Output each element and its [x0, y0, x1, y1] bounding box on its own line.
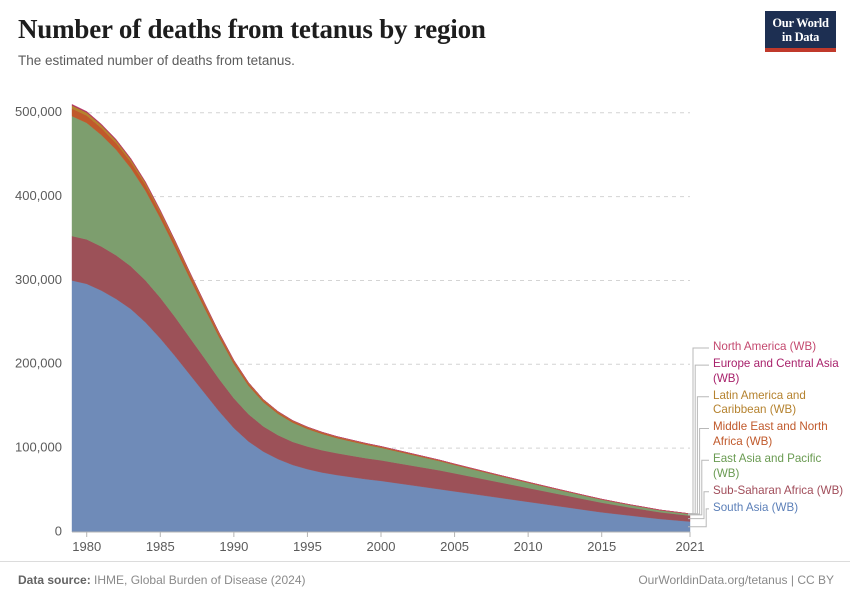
- legend-item[interactable]: Sub-Saharan Africa (WB): [713, 484, 845, 499]
- legend-item-label: South Asia (WB): [713, 501, 798, 514]
- owid-logo[interactable]: Our World in Data: [765, 11, 836, 52]
- owid-logo-line1: Our World: [771, 16, 830, 30]
- legend-connector: [688, 397, 709, 514]
- x-tick-label: 2015: [587, 539, 616, 554]
- area-band: [72, 105, 690, 514]
- x-tick-label: 2021: [676, 539, 705, 554]
- area-band: [72, 236, 690, 522]
- area-band: [72, 280, 690, 532]
- x-tick-label: 1990: [219, 539, 248, 554]
- x-tick-label: 1995: [293, 539, 322, 554]
- x-tick-label: 1980: [72, 539, 101, 554]
- legend-connectors: [688, 348, 709, 527]
- legend-item[interactable]: Europe and Central Asia (WB): [713, 357, 845, 386]
- legend-item-label: Europe and Central Asia (WB): [713, 357, 839, 385]
- legend-item[interactable]: South Asia (WB): [713, 501, 845, 516]
- attribution-link[interactable]: OurWorldinData.org/tetanus | CC BY: [638, 573, 834, 587]
- y-tick-label: 400,000: [15, 188, 62, 203]
- legend-connector: [688, 348, 709, 514]
- x-axis-labels: 198019851990199520002005201020152021: [72, 539, 704, 554]
- data-source: Data source: IHME, Global Burden of Dise…: [18, 573, 305, 587]
- page-title: Number of deaths from tetanus by region: [18, 14, 718, 45]
- area-band: [72, 105, 690, 514]
- owid-chart: Number of deaths from tetanus by region …: [0, 0, 850, 600]
- chart-footer: Data source: IHME, Global Burden of Dise…: [0, 561, 850, 600]
- data-source-value: IHME, Global Burden of Disease (2024): [94, 573, 305, 587]
- area-band: [72, 116, 690, 516]
- owid-logo-line2: in Data: [771, 30, 830, 44]
- legend-item-label: Middle East and North Africa (WB): [713, 420, 828, 448]
- legend-item[interactable]: Latin America and Caribbean (WB): [713, 389, 845, 418]
- x-tick-label: 2000: [367, 539, 396, 554]
- area-series-group: [72, 104, 690, 532]
- legend-item[interactable]: North America (WB): [713, 340, 845, 355]
- y-tick-label: 0: [55, 523, 62, 538]
- x-tick-label: 2005: [440, 539, 469, 554]
- x-tick-label: 1985: [146, 539, 175, 554]
- legend-item[interactable]: Middle East and North Africa (WB): [713, 420, 845, 449]
- legend-item-label: East Asia and Pacific (WB): [713, 452, 821, 480]
- legend-connector: [688, 365, 709, 514]
- legend: North America (WB)Europe and Central Asi…: [713, 340, 845, 518]
- legend-item-label: Latin America and Caribbean (WB): [713, 389, 806, 417]
- legend-connector: [688, 492, 709, 519]
- y-tick-label: 500,000: [15, 104, 62, 119]
- legend-item-label: North America (WB): [713, 340, 816, 353]
- y-tick-label: 100,000: [15, 440, 62, 455]
- y-tick-label: 300,000: [15, 272, 62, 287]
- gridlines: [72, 113, 690, 448]
- chart-subtitle: The estimated number of deaths from teta…: [18, 52, 718, 70]
- legend-item-label: Sub-Saharan Africa (WB): [713, 484, 843, 497]
- legend-connector: [688, 429, 709, 515]
- area-band: [72, 104, 690, 513]
- y-tick-label: 200,000: [15, 356, 62, 371]
- y-axis-labels: 0100,000200,000300,000400,000500,000: [15, 104, 62, 538]
- chart-header: Number of deaths from tetanus by region …: [18, 14, 718, 70]
- legend-connector: [688, 509, 709, 527]
- legend-connector: [688, 460, 709, 515]
- x-tick-label: 2010: [514, 539, 543, 554]
- axes-group: [72, 532, 690, 537]
- area-band: [72, 109, 690, 514]
- legend-item[interactable]: East Asia and Pacific (WB): [713, 452, 845, 481]
- data-source-label: Data source:: [18, 573, 91, 587]
